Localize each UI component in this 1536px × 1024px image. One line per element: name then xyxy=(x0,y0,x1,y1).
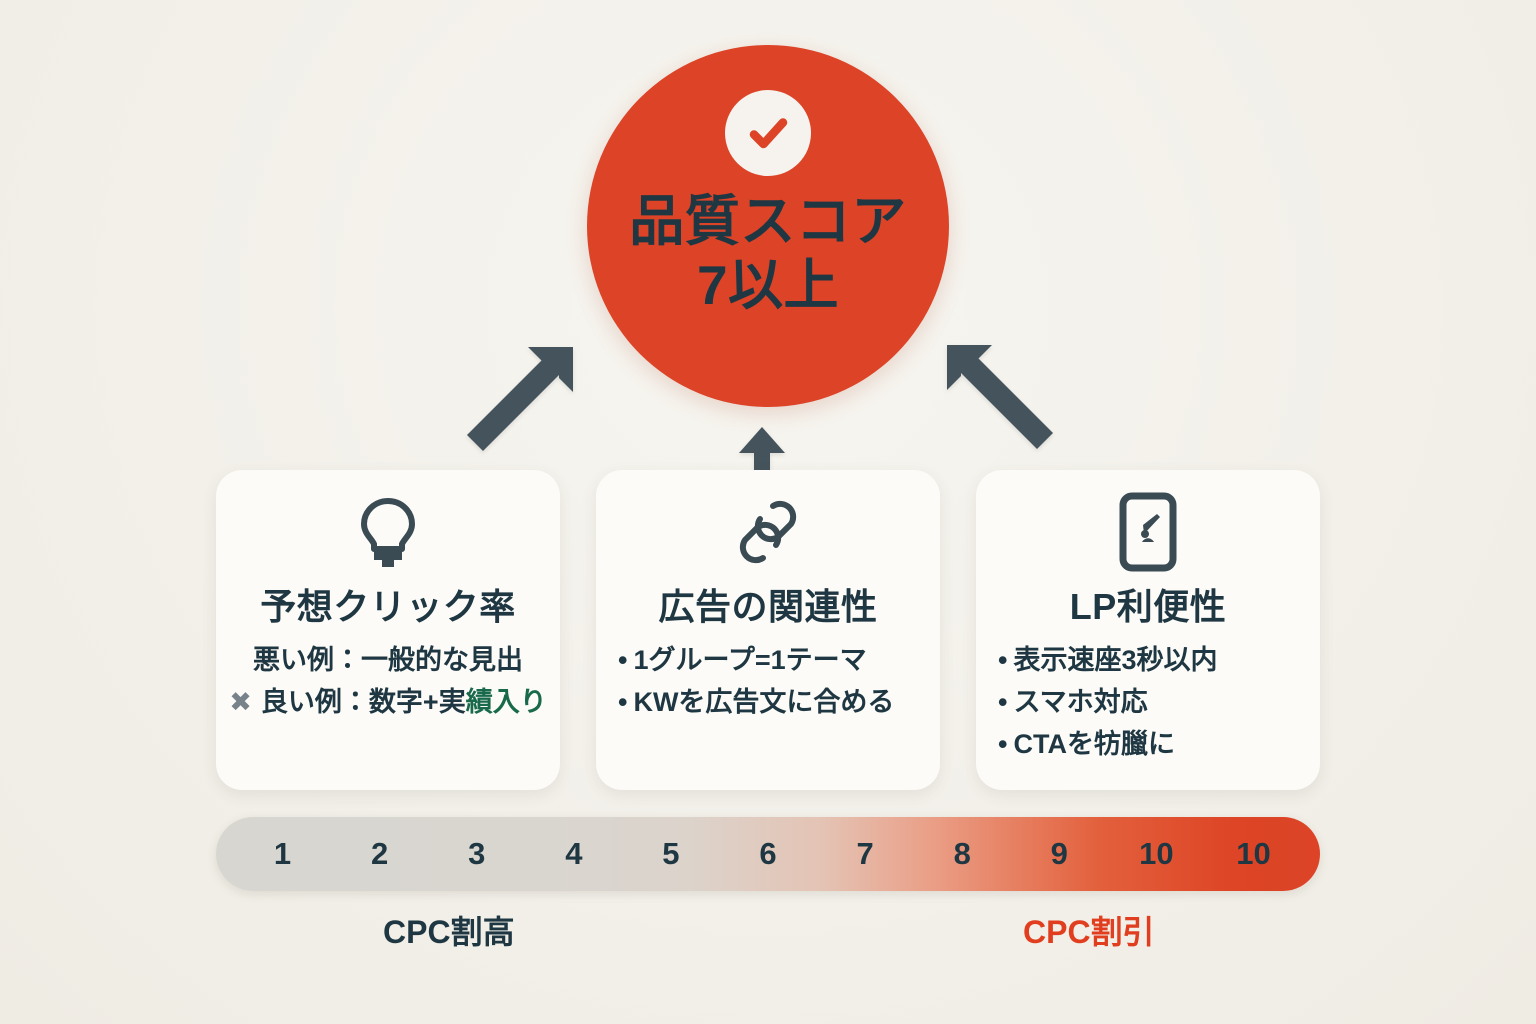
arrow-from-lp-card xyxy=(935,333,1065,453)
list-item: • スマホ対応 xyxy=(990,686,1306,719)
scale-tick: 1 xyxy=(234,836,331,872)
scale-label-low: CPC割高 xyxy=(383,907,515,953)
scale-tick: 10 xyxy=(1108,836,1205,872)
bullet-icon: • xyxy=(618,647,627,674)
scale-tick: 2 xyxy=(331,836,428,872)
quality-score-hub: 品質スコア 7以上 xyxy=(587,45,949,407)
factor-card-list: 予想クリック率 悪い例：一般的な見出 ✖ 良い例：数字+実績入り xyxy=(0,470,1536,790)
card-title: 広告の関連性 xyxy=(658,578,877,630)
score-scale: 1 2 3 4 5 6 7 8 9 10 10 CPC割高 CPC割引 xyxy=(216,817,1320,953)
line-text-highlight: 績入り xyxy=(466,686,547,719)
line-text: 表示速座3秒以内 xyxy=(1013,644,1217,677)
line-text: 良い例：数字+実 xyxy=(261,686,466,719)
card-title: 予想クリック率 xyxy=(260,578,516,630)
factor-card-lp-usability[interactable]: LP利便性 • 表示速座3秒以内 • スマホ対応 • CTAを牥臘に xyxy=(976,470,1320,790)
link-icon xyxy=(732,490,804,574)
hub-subtitle: 7以上 xyxy=(697,254,839,318)
line-text: KWを広告文に合める xyxy=(633,686,894,719)
line-text: 悪い例：一般的な見出 xyxy=(253,644,523,677)
list-item: • CTAを牥臘に xyxy=(990,728,1306,761)
line-text: CTAを牥臘に xyxy=(1013,728,1175,761)
factor-card-ad-relevance[interactable]: 広告の関連性 • 1グループ=1テーマ • KWを広告文に合める xyxy=(596,470,940,790)
list-item: ✖ 良い例：数字+実績入り xyxy=(230,686,546,719)
card-body: • 表示速座3秒以内 • スマホ対応 • CTAを牥臘に xyxy=(990,644,1306,761)
factor-card-expected-ctr[interactable]: 予想クリック率 悪い例：一般的な見出 ✖ 良い例：数字+実績入り xyxy=(216,470,560,790)
line-text: 1グループ=1テーマ xyxy=(633,644,866,677)
bullet-icon: • xyxy=(618,689,627,716)
scale-tick: 7 xyxy=(817,836,914,872)
line-text: スマホ対応 xyxy=(1013,686,1147,719)
card-body: 悪い例：一般的な見出 ✖ 良い例：数字+実績入り xyxy=(230,644,546,719)
bullet-icon: • xyxy=(998,689,1007,716)
bullet-icon: • xyxy=(998,647,1007,674)
lightbulb-icon xyxy=(356,490,420,574)
scale-tick: 3 xyxy=(428,836,525,872)
scale-tick: 6 xyxy=(719,836,816,872)
check-circle-icon xyxy=(725,90,811,176)
scale-tick: 8 xyxy=(914,836,1011,872)
list-item: • KWを広告文に合める xyxy=(610,686,926,719)
scale-tick: 9 xyxy=(1011,836,1108,872)
hub-title: 品質スコア xyxy=(629,190,907,254)
list-item: 悪い例：一般的な見出 xyxy=(230,644,546,677)
scale-tick: 5 xyxy=(622,836,719,872)
card-title: LP利便性 xyxy=(1070,578,1227,630)
infographic-canvas: 品質スコア 7以上 xyxy=(0,0,1536,1024)
cross-icon: ✖ xyxy=(229,686,252,719)
score-gradient-bar[interactable]: 1 2 3 4 5 6 7 8 9 10 10 xyxy=(216,817,1320,891)
scale-label-high: CPC割引 xyxy=(1023,907,1155,953)
list-item: • 表示速座3秒以内 xyxy=(990,644,1306,677)
mobile-phone-icon xyxy=(1119,490,1177,574)
scale-caption-row: CPC割高 CPC割引 xyxy=(216,891,1320,953)
bullet-icon: • xyxy=(998,731,1007,758)
scale-tick: 4 xyxy=(525,836,622,872)
list-item: • 1グループ=1テーマ xyxy=(610,644,926,677)
scale-tick: 10 xyxy=(1205,836,1302,872)
arrow-from-ctr-card xyxy=(455,335,585,455)
card-body: • 1グループ=1テーマ • KWを広告文に合める xyxy=(610,644,926,719)
